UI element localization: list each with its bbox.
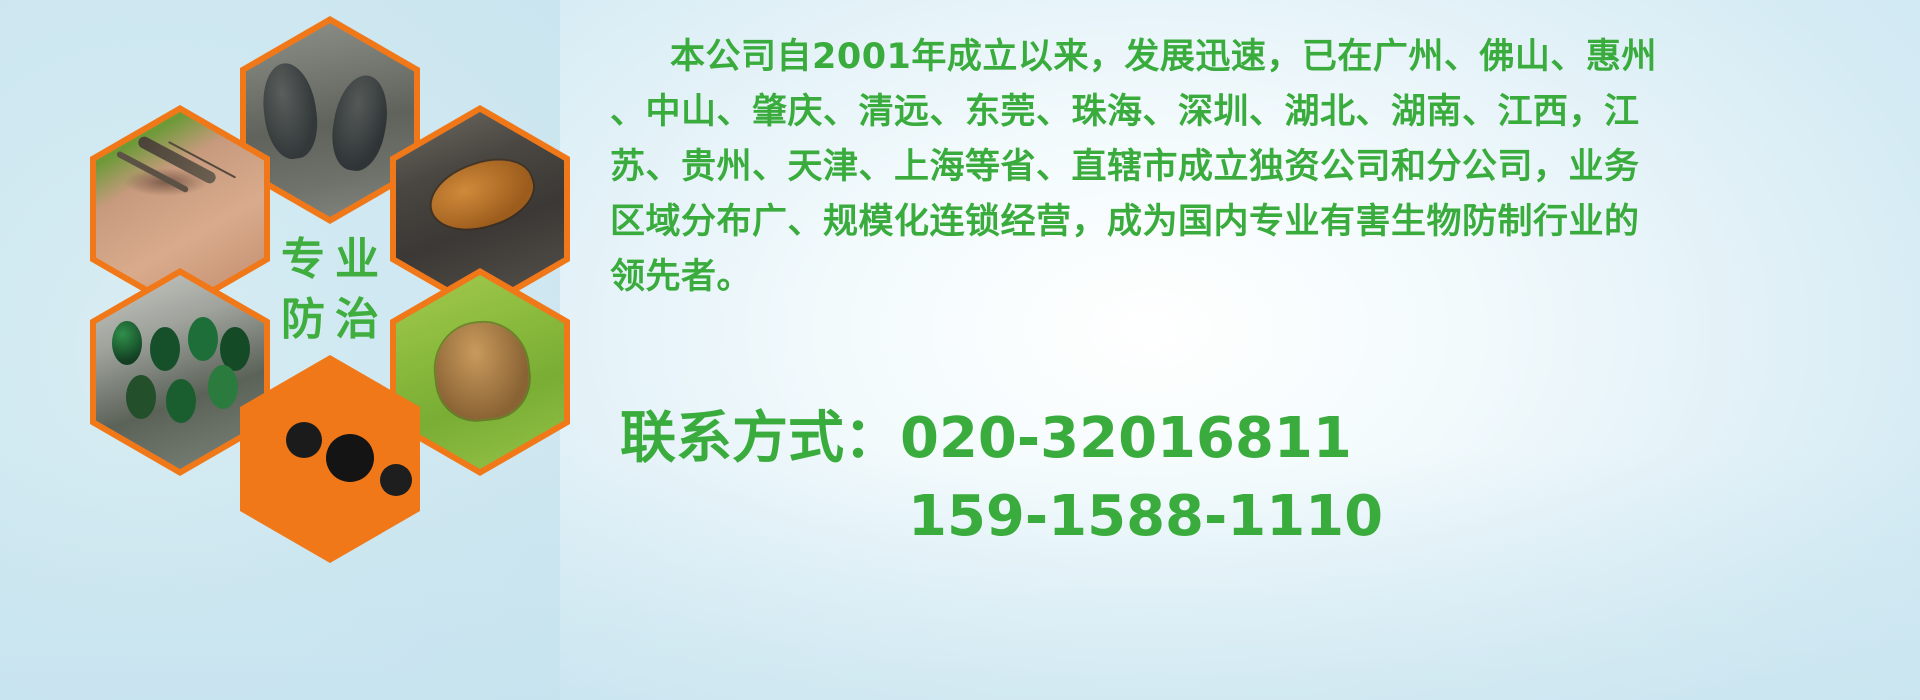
contact-landline[interactable]: 020-32016811 — [900, 406, 1352, 471]
shieldbug-photo — [396, 275, 564, 469]
contact-landline-line: 联系方式：020-32016811 — [620, 400, 1920, 478]
flies-photo — [96, 275, 264, 469]
contact-block: 联系方式：020-32016811 159-1588-1110 — [620, 400, 1920, 556]
contact-label: 联系方式： — [620, 406, 900, 471]
intro-line-2: 、中山、肇庆、清远、东莞、珠海、深圳、湖北、湖南、江西，江 — [610, 85, 1910, 140]
intro-line-1: 本公司自2001年成立以来，发展迅速，已在广州、佛山、惠州 — [610, 30, 1910, 85]
intro-line-4: 区域分布广、规模化连锁经营，成为国内专业有害生物防制行业的 — [610, 195, 1910, 250]
hex-photo-cluster: 专业 防治 — [90, 10, 590, 570]
contact-mobile-line: 159-1588-1110 — [620, 478, 1920, 556]
intro-line-3: 苏、贵州、天津、上海等省、直辖市成立独资公司和分公司，业务 — [610, 140, 1910, 195]
promo-banner: 专业 防治 本公司自2001年成立以来，发展迅速，已在广州、佛山、惠州 、中山、… — [0, 0, 1920, 700]
intro-line-1-text: 本公司自2001年成立以来，发展迅速，已在广州、佛山、惠州 — [670, 37, 1657, 77]
intro-paragraph: 本公司自2001年成立以来，发展迅速，已在广州、佛山、惠州 、中山、肇庆、清远、… — [610, 30, 1910, 305]
intro-line-5: 领先者。 — [610, 250, 1910, 305]
contact-mobile[interactable]: 159-1588-1110 — [908, 484, 1383, 549]
